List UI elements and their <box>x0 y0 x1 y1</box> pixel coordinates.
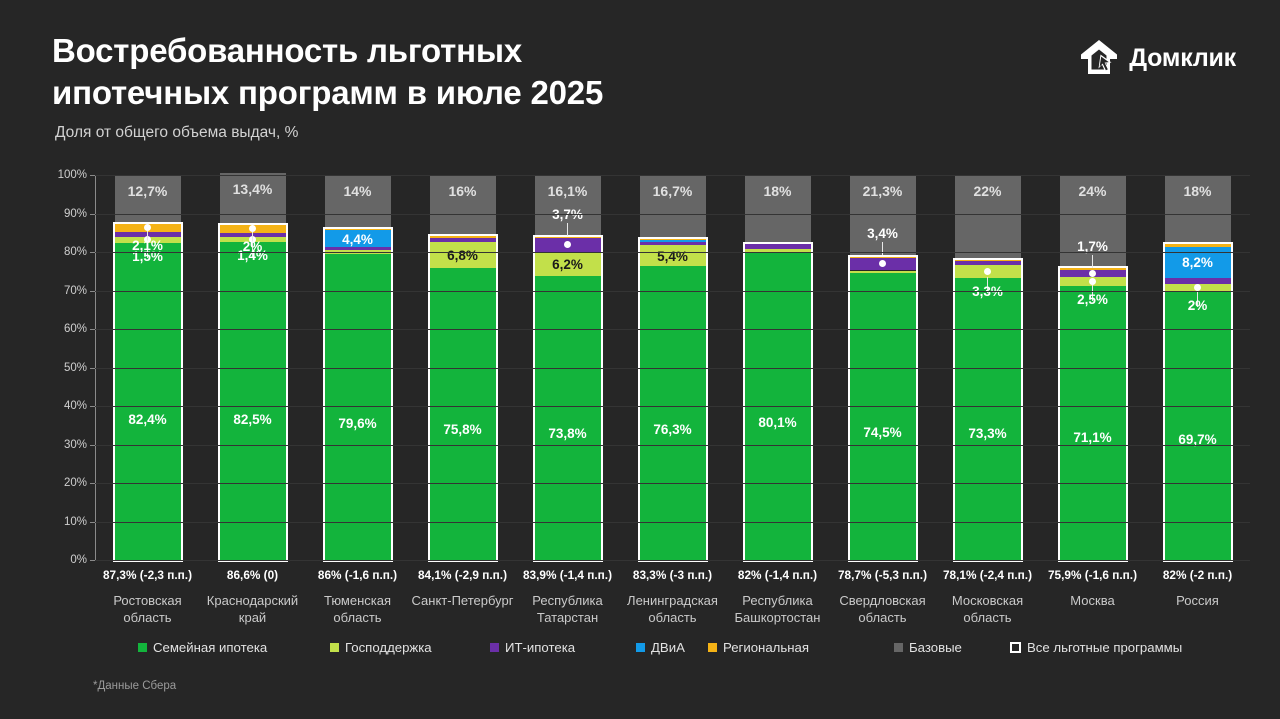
bar-segment[interactable] <box>955 260 1021 261</box>
legend-item[interactable]: ДВиА <box>636 640 685 655</box>
y-tick-mark <box>90 175 95 176</box>
x-axis-category: 82% (-1,4 п.п.)Республика Башкортостан <box>725 568 830 627</box>
gridline <box>95 214 1250 215</box>
y-tick-mark <box>90 252 95 253</box>
y-axis-tick-label: 0% <box>43 554 87 566</box>
gridline <box>95 522 1250 523</box>
category-name-label: Ростовская область <box>95 593 200 627</box>
source-footnote: *Данные Сбера <box>93 680 176 692</box>
category-name-label: Москва <box>1040 593 1145 610</box>
y-axis-tick-label: 40% <box>43 400 87 412</box>
label-anchor-dot <box>1089 278 1096 285</box>
legend-item[interactable]: Все льготные программы <box>1010 640 1182 655</box>
segment-value-label: 14% <box>325 183 391 199</box>
bar-segment[interactable] <box>1060 286 1126 560</box>
category-total-label: 83,9% (-1,4 п.п.) <box>515 568 620 582</box>
x-axis-category: 83,3% (-3 п.п.)Ленинградская область <box>620 568 725 627</box>
chart-legend: Семейная ипотекаГосподдержкаИТ-ипотекаДВ… <box>138 640 1218 658</box>
x-axis-category: 83,9% (-1,4 п.п.)Республика Татарстан <box>515 568 620 627</box>
category-name-label: Санкт-Петербург <box>410 593 515 610</box>
segment-value-label: 16,7% <box>640 183 706 199</box>
chart-page: Востребованность льготных ипотечных прог… <box>0 0 1280 719</box>
page-subtitle: Доля от общего объема выдач, % <box>55 124 298 142</box>
segment-value-label: 3,4% <box>850 226 916 241</box>
segment-value-label: 16% <box>430 183 496 199</box>
legend-item[interactable]: Семейная ипотека <box>138 640 267 655</box>
segment-value-label: 18% <box>1165 183 1231 199</box>
y-tick-mark <box>90 522 95 523</box>
bar-segment[interactable] <box>1165 292 1231 560</box>
category-name-label: Республика Башкортостан <box>725 593 830 627</box>
segment-value-label: 8,2% <box>1165 255 1231 270</box>
y-axis-tick-label: 20% <box>43 477 87 489</box>
bar-segment[interactable] <box>850 273 916 560</box>
y-tick-mark <box>90 291 95 292</box>
category-total-label: 78,1% (-2,4 п.п.) <box>935 568 1040 582</box>
label-leader-line <box>882 242 884 255</box>
x-axis-category: 82% (-2 п.п.)Россия <box>1145 568 1250 610</box>
bar-segment[interactable] <box>640 266 706 560</box>
category-name-label: Тюменская область <box>305 593 410 627</box>
gridline <box>95 445 1250 446</box>
y-axis-tick-label: 80% <box>43 246 87 258</box>
legend-item-label: ДВиА <box>651 640 685 655</box>
bar-segment[interactable] <box>325 229 391 231</box>
x-axis-category: 78,7% (-5,3 п.п.)Свердловская область <box>830 568 935 627</box>
category-total-label: 86,6% (0) <box>200 568 305 582</box>
y-tick-mark <box>90 560 95 561</box>
category-name-label: Краснодарский край <box>200 593 305 627</box>
x-axis-category: 87,3% (-2,3 п.п.)Ростовская область <box>95 568 200 627</box>
segment-value-label: 79,6% <box>325 416 391 431</box>
category-name-label: Россия <box>1145 593 1250 610</box>
y-tick-mark <box>90 214 95 215</box>
legend-swatch-icon <box>330 643 339 652</box>
segment-value-label: 13,4% <box>220 181 286 197</box>
category-total-label: 75,9% (-1,6 п.п.) <box>1040 568 1145 582</box>
gridline <box>95 560 1250 561</box>
category-name-label: Ленинградская область <box>620 593 725 627</box>
bar-segment[interactable] <box>430 268 496 560</box>
label-leader-line <box>567 223 569 236</box>
category-total-label: 83,3% (-3 п.п.) <box>620 568 725 582</box>
chart-plot-area: 0%10%20%30%40%50%60%70%80%90%100% 82,4%1… <box>95 175 1250 560</box>
legend-item-label: Базовые <box>909 640 962 655</box>
bar-segment[interactable] <box>745 244 811 249</box>
segment-value-label: 21,3% <box>850 183 916 199</box>
segment-value-label: 76,3% <box>640 422 706 437</box>
legend-swatch-icon <box>894 643 903 652</box>
segment-value-label: 80,1% <box>745 415 811 430</box>
y-axis-tick-label: 100% <box>43 169 87 181</box>
y-axis-tick-label: 10% <box>43 516 87 528</box>
bar-segment[interactable] <box>430 236 496 238</box>
legend-swatch-icon <box>490 643 499 652</box>
segment-value-label: 6,8% <box>430 248 496 263</box>
bar-segment[interactable] <box>1165 278 1231 284</box>
y-tick-mark <box>90 368 95 369</box>
brand-logo: Домклик <box>1079 38 1236 78</box>
category-total-label: 82% (-2 п.п.) <box>1145 568 1250 582</box>
bar-segment[interactable] <box>640 242 706 245</box>
segment-value-label: 18% <box>745 183 811 199</box>
legend-item-label: Все льготные программы <box>1027 640 1182 655</box>
gridline <box>95 175 1250 176</box>
y-axis-tick-label: 50% <box>43 362 87 374</box>
legend-swatch-icon <box>138 643 147 652</box>
segment-value-label: 71,1% <box>1060 430 1126 445</box>
segment-value-label: 16,1% <box>535 183 601 199</box>
page-title: Востребованность льготных ипотечных прог… <box>52 30 603 114</box>
legend-swatch-icon <box>708 643 717 652</box>
category-total-label: 87,3% (-2,3 п.п.) <box>95 568 200 582</box>
segment-value-label: 12,7% <box>115 183 181 199</box>
y-axis-tick-label: 70% <box>43 285 87 297</box>
house-cursor-logo-icon <box>1079 38 1119 78</box>
x-axis-category: 78,1% (-2,4 п.п.)Московская область <box>935 568 1040 627</box>
legend-item-label: Региональная <box>723 640 809 655</box>
y-axis-tick-label: 30% <box>43 439 87 451</box>
category-name-label: Московская область <box>935 593 1040 627</box>
category-name-label: Свердловская область <box>830 593 935 627</box>
gridline <box>95 329 1250 330</box>
legend-swatch-icon <box>636 643 645 652</box>
segment-value-label: 82,4% <box>115 412 181 427</box>
bar-segment[interactable] <box>955 261 1021 265</box>
segment-value-label: 4,4% <box>325 232 391 247</box>
bar-segment[interactable] <box>640 240 706 242</box>
x-axis-category: 86% (-1,6 п.п.)Тюменская область <box>305 568 410 627</box>
segment-value-label: 2,5% <box>1060 292 1126 307</box>
category-total-label: 86% (-1,6 п.п.) <box>305 568 410 582</box>
y-tick-mark <box>90 406 95 407</box>
legend-swatch-icon <box>1010 642 1021 653</box>
gridline <box>95 406 1250 407</box>
segment-value-label: 73,8% <box>535 426 601 441</box>
y-tick-mark <box>90 329 95 330</box>
segment-value-label: 2,1% <box>115 238 181 253</box>
category-total-label: 82% (-1,4 п.п.) <box>725 568 830 582</box>
segment-value-label: 24% <box>1060 183 1126 199</box>
label-leader-line <box>1092 255 1094 268</box>
gridline <box>95 368 1250 369</box>
bar-segment[interactable] <box>325 247 391 250</box>
segment-value-label: 22% <box>955 183 1021 199</box>
bar-segment[interactable] <box>1165 244 1231 246</box>
x-axis-category: 84,1% (-2,9 п.п.)Санкт-Петербург <box>410 568 515 610</box>
y-tick-mark <box>90 483 95 484</box>
category-total-label: 78,7% (-5,3 п.п.) <box>830 568 935 582</box>
bar-segment[interactable] <box>955 278 1021 560</box>
segment-value-label: 75,8% <box>430 422 496 437</box>
y-axis-tick-label: 60% <box>43 323 87 335</box>
label-anchor-dot <box>984 268 991 275</box>
bar-segment[interactable] <box>430 238 496 242</box>
legend-item[interactable]: Базовые <box>894 640 962 655</box>
gridline <box>95 252 1250 253</box>
category-name-label: Республика Татарстан <box>515 593 620 627</box>
segment-value-label: 2% <box>1165 298 1231 313</box>
legend-item[interactable]: Господдержка <box>330 640 432 655</box>
label-anchor-dot <box>1089 270 1096 277</box>
legend-item-label: Господдержка <box>345 640 432 655</box>
gridline <box>95 291 1250 292</box>
logo-wordmark: Домклик <box>1129 44 1236 73</box>
y-axis-tick-label: 90% <box>43 208 87 220</box>
legend-item[interactable]: Региональная <box>708 640 809 655</box>
bar-segment[interactable] <box>850 271 916 274</box>
bar-segment[interactable] <box>640 239 706 240</box>
category-total-label: 84,1% (-2,9 п.п.) <box>410 568 515 582</box>
bar-segment[interactable] <box>535 237 601 238</box>
segment-value-label: 73,3% <box>955 426 1021 441</box>
segment-value-label: 6,2% <box>535 257 601 272</box>
segment-value-label: 74,5% <box>850 425 916 440</box>
legend-item-label: ИТ-ипотека <box>505 640 575 655</box>
y-tick-mark <box>90 445 95 446</box>
gridline <box>95 483 1250 484</box>
x-axis-category: 86,6% (0)Краснодарский край <box>200 568 305 627</box>
legend-item[interactable]: ИТ-ипотека <box>490 640 575 655</box>
bar-segment[interactable] <box>535 276 601 560</box>
segment-value-label: 82,5% <box>220 412 286 427</box>
x-axis-category: 75,9% (-1,6 п.п.)Москва <box>1040 568 1145 610</box>
legend-item-label: Семейная ипотека <box>153 640 267 655</box>
